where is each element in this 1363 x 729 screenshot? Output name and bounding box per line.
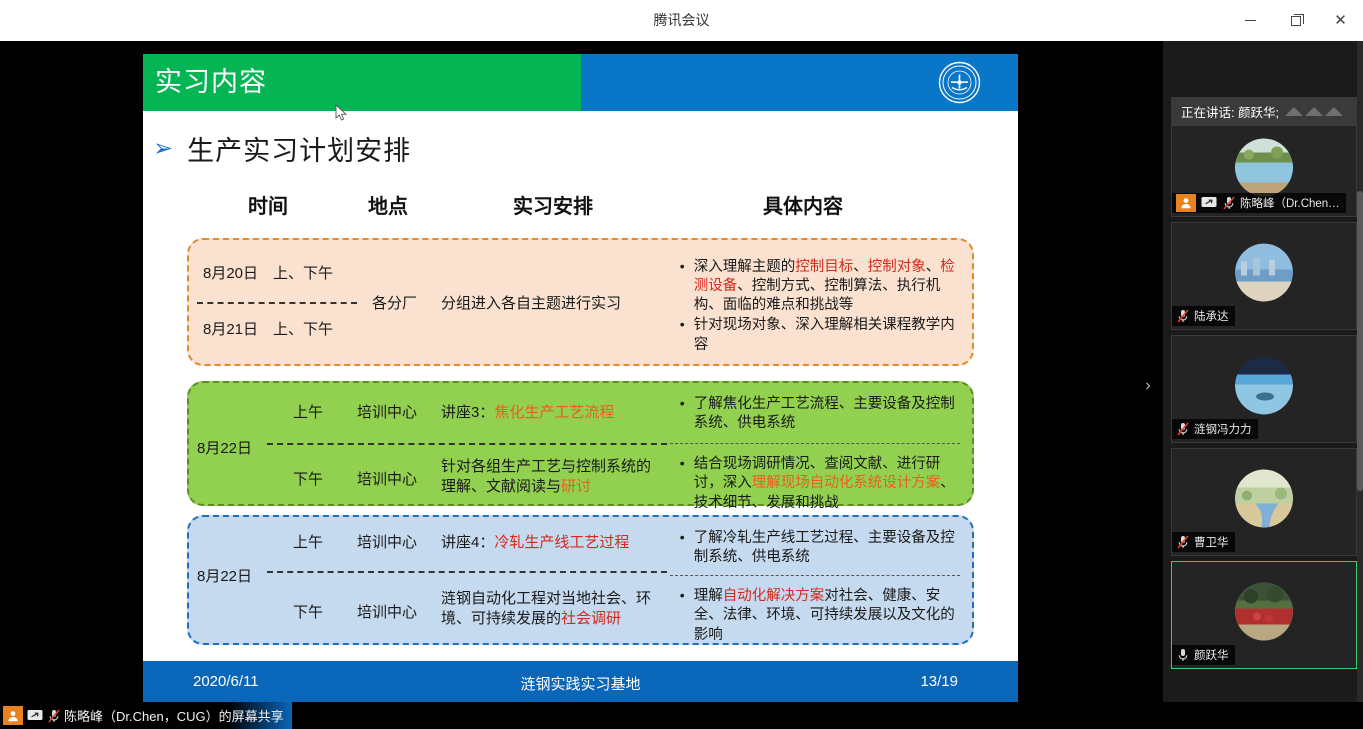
table-row: 8月22日 上午 培训中心 讲座3：焦化生产工艺流程 下午 培训中心 针对各组生… [187,381,974,506]
seg: 讲座3： [441,404,494,421]
participant-tile[interactable]: 涟钢冯力力 [1171,335,1357,443]
detail-bullet-item: 理解自动化解决方案对社会、健康、安全、法律、环境、可持续发展以及文化的影响 [678,587,966,644]
mic-muted-icon [1176,308,1190,324]
cell-period: 上午 [293,401,323,422]
seg-orange: 研讨 [561,478,591,495]
seg: 针对各组生产工艺与控制系统的理解、文献阅读与 [441,458,651,495]
slide-banner-title: 实习内容 [155,54,267,111]
detail-bullets: 深入理解主题的控制目标、控制对象、检测设备、控制方式、控制算法、执行机构、面临的… [678,258,966,355]
participants-panel: 正在讲话: 颜跃华; [1163,41,1363,702]
close-button[interactable]: ✕ [1318,0,1363,41]
seg-red: 冷轧生产线工艺过程 [494,534,629,551]
mic-muted-icon [47,708,61,724]
detail-bullets: 了解冷轧生产线工艺过程、主要设备及控制系统、供电系统 [678,529,966,567]
title-bar: 腾讯会议 ✕ [0,0,1363,41]
participant-name: 陈略峰（Dr.Chen… [1240,195,1340,211]
mic-muted-icon [1176,421,1190,437]
university-logo-icon [938,61,981,104]
seg-red: 社会调研 [561,610,621,627]
restore-button[interactable] [1273,0,1318,41]
cell-schedule: 讲座3：焦化生产工艺流程 [441,401,614,422]
cell-place: 培训中心 [357,401,417,422]
row-left-blue: 8月22日 上午 培训中心 讲座4：冷轧生产线工艺过程 下午 培训中心 涟钢自动… [189,517,670,643]
slide-footer-title: 涟钢实践实习基地 [143,673,1018,694]
meeting-window: 腾讯会议 ✕ 实习内容 [0,0,1363,729]
detail-bullet-item: 结合现场调研情况、查阅文献、进行研讨，深入理解现场自动化系统设计方案、技术细节、… [678,455,966,512]
seg: 了解冷轧生产线工艺过程、主要设备及控制系统、供电系统 [694,530,955,565]
active-speaker-label: 正在讲话: 颜跃华; [1181,102,1279,121]
cell-date: 8月22日 [197,565,252,586]
cell-schedule: 涟钢自动化工程对当地社会、环境、可持续发展的社会调研 [441,589,653,630]
section-heading: ➢ 生产实习计划安排 [153,129,411,168]
participant-tile[interactable]: 陈略峰（Dr.Chen… [1171,125,1357,217]
cell-period: 下午 [293,601,323,622]
detail-bullet-item: 了解冷轧生产线工艺过程、主要设备及控制系统、供电系统 [678,529,966,567]
table-column-headers: 时间 地点 实习安排 具体内容 [143,190,1018,220]
close-icon: ✕ [1334,13,1347,28]
slide-page-number: 13/19 [920,673,958,690]
scrollbar-thumb[interactable] [1357,191,1363,491]
cell-schedule: 讲座4：冷轧生产线工艺过程 [441,531,629,552]
seg-orange: 理解现场自动化系统设计方案 [752,475,941,491]
participant-name: 涟钢冯力力 [1194,421,1252,437]
host-badge-icon [3,706,23,725]
row-right-blue: 了解冷轧生产线工艺过程、主要设备及控制系统、供电系统 理解自动化解决方案对社会、… [670,517,972,643]
speaking-wave-icon [1285,107,1343,116]
mouse-cursor-icon [335,104,349,122]
seg-red: 自动化解决方案 [723,588,825,604]
detail-bullets: 了解焦化生产工艺流程、主要设备及控制系统、供电系统 [678,395,966,433]
window-title: 腾讯会议 [0,0,1363,41]
participant-nametag: 陈略峰（Dr.Chen… [1172,193,1346,213]
cell-schedule: 分组进入各自主题进行实习 [441,292,621,313]
minimize-icon [1245,20,1256,21]
cell-schedule: 针对各组生产工艺与控制系统的理解、文献阅读与研讨 [441,457,651,498]
seg: 讲座4： [441,534,494,551]
slide-footer: 2020/6/11 涟钢实践实习基地 13/19 [143,661,1018,703]
mic-active-icon [1176,647,1190,663]
detail-bullet-item: 深入理解主题的控制目标、控制对象、检测设备、控制方式、控制算法、执行机构、面临的… [678,258,966,315]
mic-muted-icon [1176,534,1190,550]
screen-share-taskbar-item[interactable]: 陈略峰（Dr.Chen，CUG）的屏幕共享 [0,702,292,729]
table-row: 8月22日 上午 培训中心 讲座4：冷轧生产线工艺过程 下午 培训中心 涟钢自动… [187,515,974,645]
seg: 、 [926,259,941,275]
detail-separator [670,443,960,444]
shared-screen-stage[interactable]: 实习内容 [0,41,1163,702]
avatar [1235,139,1293,197]
seg: 理解 [694,588,723,604]
participants-scrollbar[interactable] [1357,41,1363,702]
cell-place: 各分厂 [372,292,417,313]
detail-bullets: 理解自动化解决方案对社会、健康、安全、法律、环境、可持续发展以及文化的影响 [678,587,966,644]
table-row: 8月20日 上、下午 8月21日 上、下午 各分厂 分组进入各自主题进行实习 深… [187,238,974,366]
mic-muted-icon [1222,195,1236,211]
cell-place: 培训中心 [357,531,417,552]
active-speaker-indicator: 正在讲话: 颜跃华; [1171,97,1357,125]
cell-place: 培训中心 [357,601,417,622]
row-left-orange: 8月20日 上、下午 8月21日 上、下午 各分厂 分组进入各自主题进行实习 [189,240,670,364]
restore-icon [1291,16,1301,26]
detail-bullets: 结合现场调研情况、查阅文献、进行研讨，深入理解现场自动化系统设计方案、技术细节、… [678,455,966,512]
screen-share-icon [26,707,44,725]
seg-red: 控制对象 [868,259,926,275]
seg: 、 [853,259,868,275]
host-badge-icon [1176,194,1196,212]
avatar [1235,357,1293,415]
slide-banner: 实习内容 [143,54,1018,111]
row-separator [267,443,667,445]
cell-date-2: 8月21日 上、下午 [203,318,333,339]
presentation-slide: 实习内容 [143,54,1018,703]
taskbar-share-label: 陈略峰（Dr.Chen，CUG）的屏幕共享 [64,706,284,725]
row-separator [267,571,667,573]
cell-period: 下午 [293,468,323,489]
participant-tiles: 陈略峰（Dr.Chen… [1171,125,1357,674]
participant-name: 颜跃华 [1194,647,1229,663]
screen-share-icon [1200,194,1218,212]
minimize-button[interactable] [1228,0,1273,41]
seg: 针对现场对象、深入理解相关课程教学内容 [694,317,955,352]
column-header-time: 时间 [248,190,288,219]
cell-date: 8月22日 [197,437,252,458]
detail-bullet-item: 针对现场对象、深入理解相关课程教学内容 [678,316,966,354]
participant-tile-active-speaker[interactable]: 颜跃华 [1171,561,1357,669]
detail-separator [670,575,960,576]
participant-name: 陆承达 [1194,308,1229,324]
avatar [1235,244,1293,302]
seg: 了解焦化生产工艺流程、主要设备及控制系统、供电系统 [694,396,955,431]
participant-tile[interactable]: 曹卫华 [1171,448,1357,556]
window-controls: ✕ [1228,0,1363,41]
cell-place: 培训中心 [357,468,417,489]
seg-red: 控制目标 [795,259,853,275]
avatar [1235,470,1293,528]
column-header-schedule: 实习安排 [513,190,593,219]
column-header-detail: 具体内容 [763,190,843,219]
participant-nametag: 涟钢冯力力 [1172,419,1258,439]
taskbar: 陈略峰（Dr.Chen，CUG）的屏幕共享 [0,702,1363,729]
cell-date-1: 8月20日 上、下午 [203,262,333,283]
participant-name: 曹卫华 [1194,534,1229,550]
section-title: 生产实习计划安排 [187,129,411,168]
arrow-bullet-icon: ➢ [153,137,173,161]
column-header-place: 地点 [368,190,408,219]
row-right-orange: 深入理解主题的控制目标、控制对象、检测设备、控制方式、控制算法、执行机构、面临的… [670,240,972,364]
participant-nametag: 曹卫华 [1172,532,1235,552]
detail-bullet-item: 了解焦化生产工艺流程、主要设备及控制系统、供电系统 [678,395,966,433]
seg: 深入理解主题的 [694,259,796,275]
participant-nametag: 陆承达 [1172,306,1235,326]
row-left-green: 8月22日 上午 培训中心 讲座3：焦化生产工艺流程 下午 培训中心 针对各组生… [189,383,670,504]
avatar [1235,583,1293,641]
row-right-green: 了解焦化生产工艺流程、主要设备及控制系统、供电系统 结合现场调研情况、查阅文献、… [670,383,972,504]
row-separator [197,302,357,304]
collapse-panel-chevron-icon[interactable]: › [1139,371,1157,401]
participant-nametag: 颜跃华 [1172,645,1235,665]
cell-period: 上午 [293,531,323,552]
seg-orange: 焦化生产工艺流程 [494,404,614,421]
participant-tile[interactable]: 陆承达 [1171,222,1357,330]
